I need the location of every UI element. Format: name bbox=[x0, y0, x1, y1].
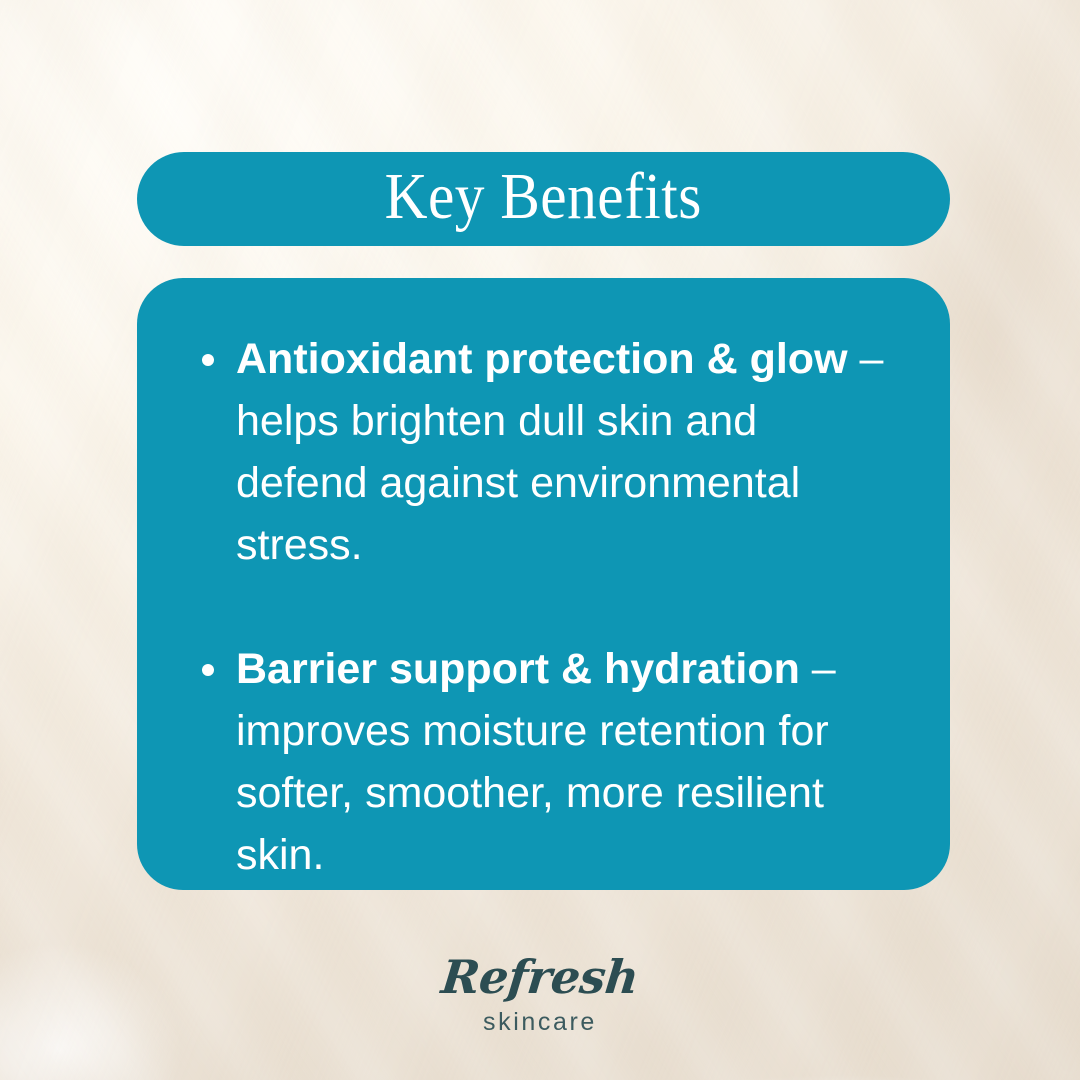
list-item: Antioxidant protection & glow – helps br… bbox=[193, 328, 894, 576]
list-item: Barrier support & hydration – improves m… bbox=[193, 638, 894, 886]
brand-name: Refresh bbox=[0, 952, 1080, 1002]
poster-canvas: Key Benefits Antioxidant protection & gl… bbox=[0, 0, 1080, 1080]
benefit-lead-label: Antioxidant protection & glow bbox=[236, 335, 859, 383]
brand-logo: Refresh skincare bbox=[0, 952, 1080, 1036]
brand-tagline: skincare bbox=[0, 1008, 1080, 1036]
bullet-dot-icon bbox=[202, 664, 214, 676]
bullet-dot-icon bbox=[202, 354, 214, 366]
page-title: Key Benefits bbox=[385, 164, 702, 234]
benefits-list: Antioxidant protection & glow – helps br… bbox=[193, 328, 894, 886]
title-banner: Key Benefits bbox=[137, 152, 950, 246]
benefits-card: Antioxidant protection & glow – helps br… bbox=[137, 278, 950, 890]
benefit-lead-label: Barrier support & hydration bbox=[236, 645, 812, 693]
